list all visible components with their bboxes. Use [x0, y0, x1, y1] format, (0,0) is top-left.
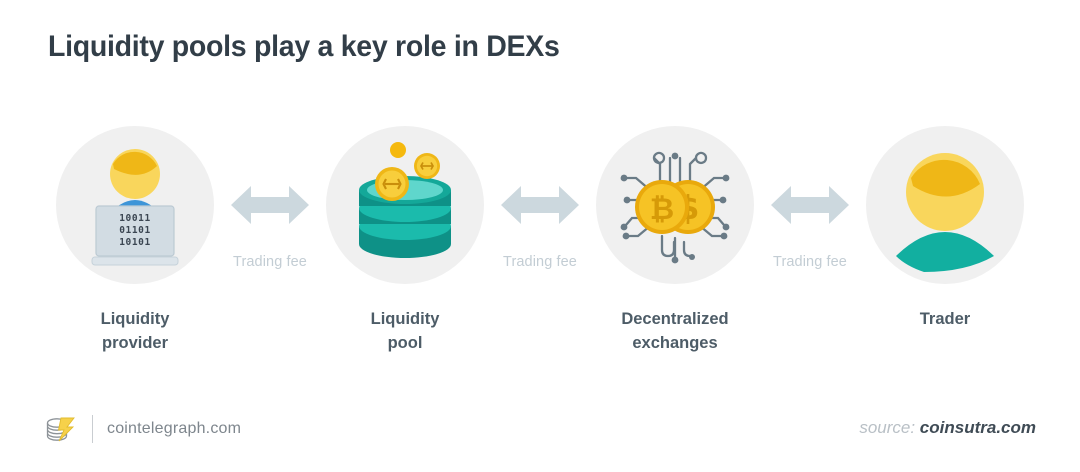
double-arrow-icon: [231, 182, 309, 228]
user-avatar-icon: [866, 126, 1024, 284]
person-with-laptop-icon: 10011 01101 10101: [56, 126, 214, 284]
source-prefix: source:: [859, 418, 915, 437]
cointelegraph-logo: [44, 414, 78, 444]
divider: [92, 415, 93, 443]
caption-line-1: Liquidity: [326, 308, 484, 332]
double-arrow-icon: [771, 182, 849, 228]
flow-node-decentralized-exchanges: $ ₿: [596, 126, 754, 284]
flow-node-liquidity-provider: 10011 01101 10101: [56, 126, 214, 284]
caption-line-2: provider: [56, 332, 214, 356]
source-name: coinsutra.com: [920, 418, 1036, 437]
flow-node-liquidity-pool: [326, 126, 484, 284]
source-credit: source: coinsutra.com: [859, 418, 1036, 438]
footer: cointelegraph.com source: coinsutra.com: [0, 400, 1080, 472]
page-title: Liquidity pools play a key role in DEXs: [48, 30, 560, 64]
caption-line-2: exchanges: [596, 332, 754, 356]
trading-fee-label: Trading fee: [773, 254, 847, 270]
caption-line-2: pool: [326, 332, 484, 356]
caption-line-1: Liquidity: [56, 308, 214, 332]
flow-node-trader: [866, 126, 1024, 284]
flow-link-2: Trading fee: [484, 126, 596, 284]
flow-link-1: Trading fee: [214, 126, 326, 284]
caption-liquidity-provider: Liquidity provider: [56, 308, 214, 356]
brand-block[interactable]: cointelegraph.com: [44, 414, 241, 444]
flow-captions: Liquidity provider Liquidity pool Decent…: [0, 308, 1080, 356]
double-arrow-icon: [501, 182, 579, 228]
binary-line-3: 10101: [119, 237, 151, 248]
caption-line-1: Trader: [866, 308, 1024, 332]
trading-fee-label: Trading fee: [233, 254, 307, 270]
caption-line-1: Decentralized: [596, 308, 754, 332]
flow-link-3: Trading fee: [754, 126, 866, 284]
caption-trader: Trader: [866, 308, 1024, 332]
brand-text: cointelegraph.com: [107, 420, 241, 438]
flow-diagram: 10011 01101 10101 Trading fee: [0, 120, 1080, 290]
trading-fee-label: Trading fee: [503, 254, 577, 270]
bitcoin-dollar-circuit-icon: $ ₿: [596, 126, 754, 284]
bitcoin-symbol: ₿: [650, 192, 674, 227]
caption-liquidity-pool: Liquidity pool: [326, 308, 484, 356]
caption-decentralized-exchanges: Decentralized exchanges: [596, 308, 754, 356]
binary-line-1: 10011: [119, 213, 151, 224]
coin-stack-pool-icon: [326, 126, 484, 284]
binary-line-2: 01101: [119, 225, 151, 236]
